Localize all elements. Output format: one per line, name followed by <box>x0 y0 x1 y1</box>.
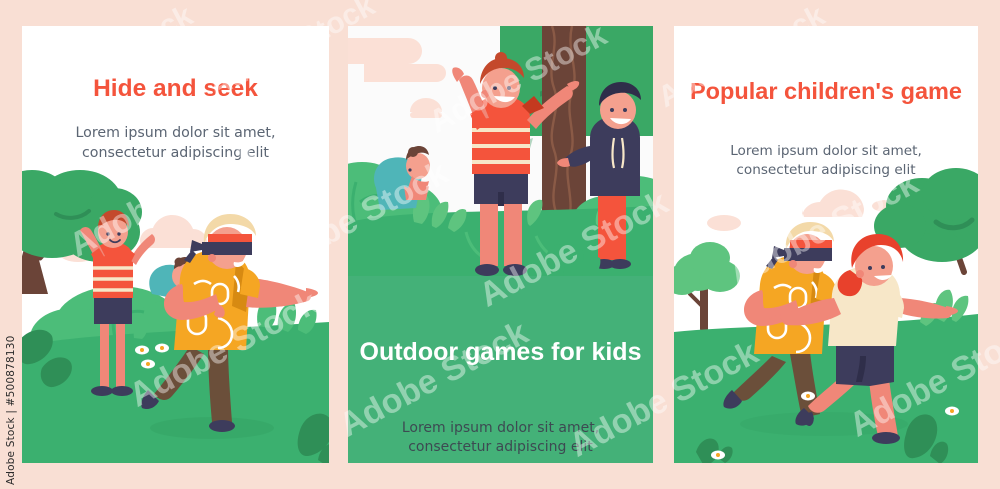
card-subtitle-popular-childrens-game: Lorem ipsum dolor sit amet, consectetur … <box>674 142 978 180</box>
poster-set: Hide and seek Lorem ipsum dolor sit amet… <box>0 0 1000 489</box>
card-title-popular-childrens-game: Popular children's game <box>674 78 978 104</box>
card-outdoor-games[interactable]: Outdoor games for kids Lorem ipsum dolor… <box>348 26 653 463</box>
illustration-outdoor-games <box>348 26 653 463</box>
card-title-outdoor-games: Outdoor games for kids <box>348 338 653 366</box>
card-popular-childrens-game[interactable]: Popular children's game Lorem ipsum dolo… <box>674 26 978 463</box>
stock-credit-watermark: Adobe Stock | #500878130 <box>0 335 22 485</box>
card-subtitle-outdoor-games: Lorem ipsum dolor sit amet, consectetur … <box>348 419 653 458</box>
card-hide-and-seek[interactable]: Hide and seek Lorem ipsum dolor sit amet… <box>22 26 329 463</box>
card-subtitle-hide-and-seek: Lorem ipsum dolor sit amet, consectetur … <box>22 124 329 163</box>
card-title-hide-and-seek: Hide and seek <box>22 75 329 102</box>
